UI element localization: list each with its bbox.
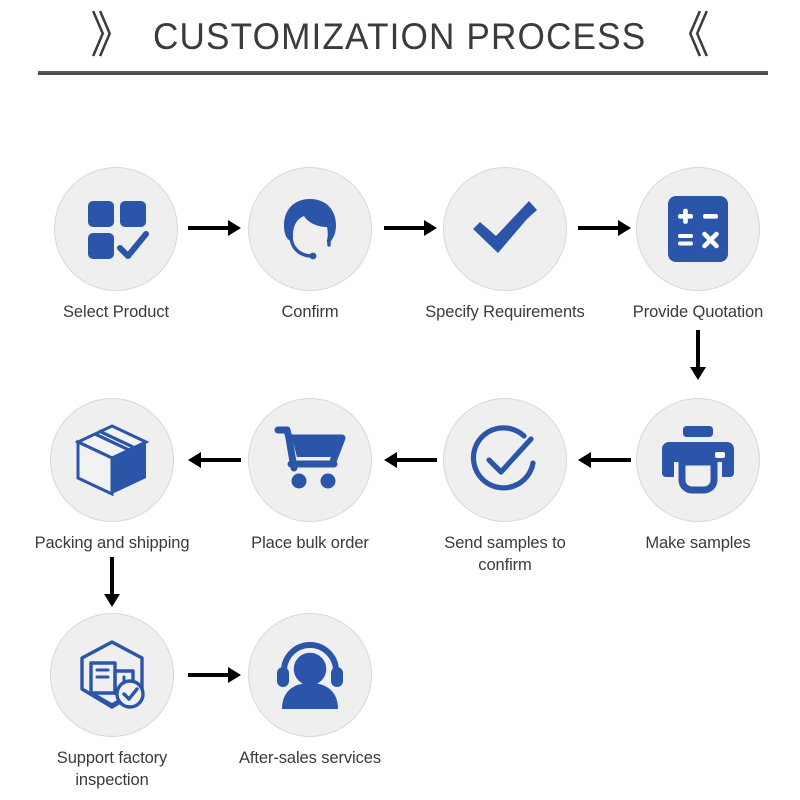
step-label: Support factory inspection <box>28 748 196 792</box>
step-label: Send samples to confirm <box>421 533 589 577</box>
step-label: Place bulk order <box>226 533 394 555</box>
process-step-specify-requirements[interactable]: Specify Requirements <box>421 167 589 324</box>
step-icon-circle <box>443 398 567 522</box>
process-step-after-sales-services[interactable]: After-sales services <box>226 613 394 770</box>
process-step-packing-and-shipping[interactable]: Packing and shipping <box>28 398 196 555</box>
step-icon-circle <box>636 398 760 522</box>
step-icon-circle <box>50 398 174 522</box>
connector-arrow-4 <box>687 330 709 380</box>
process-step-send-samples-to-confirm[interactable]: Send samples to confirm <box>421 398 589 577</box>
factory-inspection-shield-icon <box>74 637 150 713</box>
headset-agent-icon <box>273 192 347 266</box>
checkmark-icon <box>467 191 543 267</box>
headphones-person-icon <box>272 639 348 711</box>
connector-arrow-8 <box>101 557 123 607</box>
arrow-shaft <box>188 226 228 230</box>
step-label: Specify Requirements <box>421 302 589 324</box>
arrow-shaft <box>397 458 437 462</box>
title-row: 》 CUSTOMIZATION PROCESS 《 <box>0 8 800 66</box>
step-label: Provide Quotation <box>614 302 782 324</box>
arrow-shaft <box>384 226 424 230</box>
process-step-provide-quotation[interactable]: Provide Quotation <box>614 167 782 324</box>
step-icon-circle <box>248 398 372 522</box>
calculator-icon <box>665 193 731 265</box>
process-step-place-bulk-order[interactable]: Place bulk order <box>226 398 394 555</box>
arrow-shaft <box>110 557 114 594</box>
step-icon-circle <box>54 167 178 291</box>
page-header: 》 CUSTOMIZATION PROCESS 《 <box>0 0 800 90</box>
arrow-shaft <box>591 458 631 462</box>
process-step-support-factory-inspection[interactable]: Support factory inspection <box>28 613 196 792</box>
arrow-head <box>104 594 120 607</box>
arrow-shaft <box>201 458 241 462</box>
arrow-shaft <box>188 673 228 677</box>
process-step-select-product[interactable]: Select Product <box>32 167 200 324</box>
step-icon-circle <box>50 613 174 737</box>
step-label: Confirm <box>226 302 394 324</box>
shopping-cart-icon <box>272 424 348 496</box>
arrow-head <box>690 367 706 380</box>
step-icon-circle <box>248 613 372 737</box>
page-title: CUSTOMIZATION PROCESS <box>153 16 646 58</box>
box-package-icon <box>73 422 151 498</box>
step-label: Make samples <box>614 533 782 555</box>
step-label: Select Product <box>32 302 200 324</box>
title-divider <box>38 71 768 75</box>
step-icon-circle <box>636 167 760 291</box>
process-step-make-samples[interactable]: Make samples <box>614 398 782 555</box>
arrow-shaft <box>578 226 618 230</box>
chevron-left-decoration-icon: 》 <box>90 12 134 61</box>
step-icon-circle <box>443 167 567 291</box>
printer-icon <box>660 424 736 496</box>
circle-check-icon <box>467 422 543 498</box>
process-step-confirm[interactable]: Confirm <box>226 167 394 324</box>
step-icon-circle <box>248 167 372 291</box>
arrow-shaft <box>696 330 700 367</box>
step-label: After-sales services <box>226 748 394 770</box>
step-label: Packing and shipping <box>28 533 196 555</box>
chevron-right-decoration-icon: 《 <box>666 12 710 61</box>
grid-check-icon <box>81 194 151 264</box>
